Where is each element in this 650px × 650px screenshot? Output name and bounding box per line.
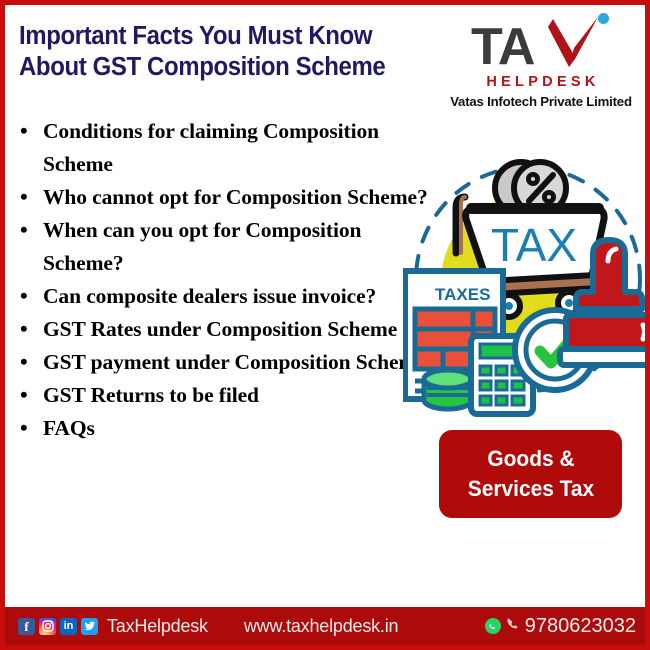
coin-stack-icon — [424, 370, 472, 409]
list-item: When can you opt for Composition Scheme? — [15, 214, 435, 280]
logo-dot-icon — [598, 13, 609, 24]
list-item: Can composite dealers issue invoice? — [15, 280, 435, 313]
logo-wordmark: TA — [471, 21, 534, 73]
footer-contact: 9780623032 — [485, 615, 636, 638]
list-item: GST Rates under Composition Scheme — [15, 313, 435, 346]
title-line-1: Important Facts You Must Know — [19, 21, 461, 52]
whatsapp-glyph — [487, 621, 498, 632]
document-title-label: TAXES — [435, 285, 490, 304]
list-item: GST payment under Composition Scheme — [15, 346, 435, 379]
facts-list: Conditions for claiming Composition Sche… — [15, 115, 435, 445]
facebook-icon[interactable]: f — [18, 618, 35, 635]
header: Important Facts You Must Know About GST … — [5, 5, 645, 110]
phone-handset-glyph — [506, 617, 520, 631]
instagram-icon[interactable] — [39, 618, 56, 635]
list-item: FAQs — [15, 412, 435, 445]
twitter-bird-glyph — [84, 620, 96, 632]
social-links: f in — [18, 618, 98, 635]
page-title: Important Facts You Must Know About GST … — [19, 21, 461, 83]
footer-bar: f in TaxHelpdesk www.taxhelpdesk.in — [5, 607, 645, 645]
linkedin-icon[interactable]: in — [60, 618, 77, 635]
list-item: GST Returns to be filed — [15, 379, 435, 412]
footer-handle[interactable]: TaxHelpdesk — [107, 616, 208, 637]
cart-tax-label: TAX — [491, 219, 577, 271]
whatsapp-icon[interactable] — [485, 618, 501, 634]
footer-website[interactable]: www.taxhelpdesk.in — [244, 616, 398, 637]
twitter-icon[interactable] — [81, 618, 98, 635]
footer-phone-number[interactable]: 9780623032 — [525, 615, 636, 638]
phone-icon[interactable] — [506, 617, 520, 636]
list-item: Who cannot opt for Composition Scheme? — [15, 181, 435, 214]
badge-line-1: Goods & — [467, 444, 593, 474]
logo-company-name: Vatas Infotech Private Limited — [443, 94, 639, 109]
logo-tagline: HELPDESK — [443, 74, 639, 90]
red-check-x-icon — [547, 15, 603, 73]
infographic-poster: Important Facts You Must Know About GST … — [0, 0, 650, 650]
badge-line-2: Services Tax — [467, 474, 593, 504]
gst-badge: Goods & Services Tax — [439, 430, 622, 518]
tax-illustration: TAX TAXES — [403, 157, 650, 417]
instagram-glyph — [42, 620, 54, 632]
logo-mark: TA — [471, 21, 611, 73]
list-item: Conditions for claiming Composition Sche… — [15, 115, 435, 181]
brand-logo: TA HELPDESK Vatas Infotech Private Limit… — [443, 21, 639, 109]
title-line-2: About GST Composition Scheme — [19, 52, 461, 83]
